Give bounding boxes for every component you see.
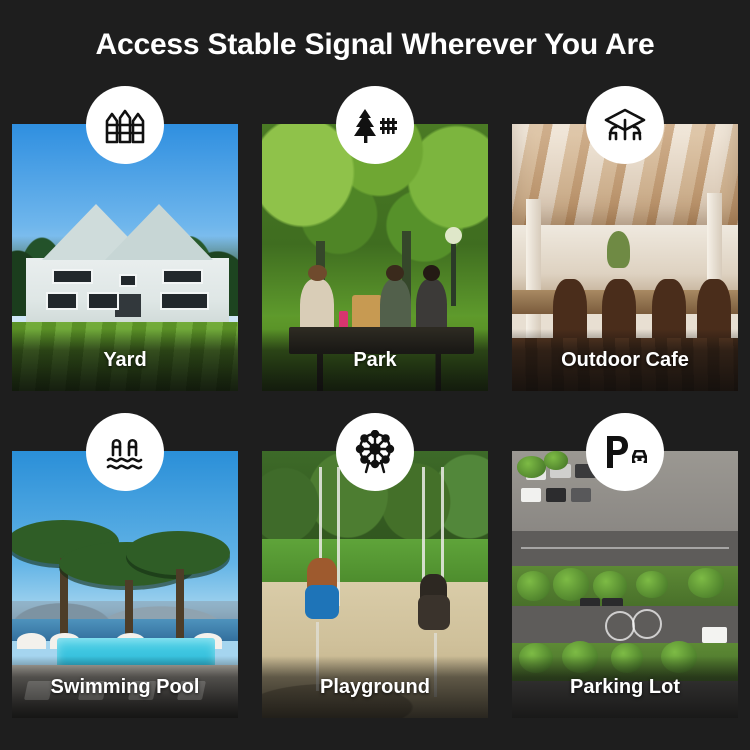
fence-icon bbox=[86, 86, 164, 164]
park-photo: Park bbox=[262, 124, 488, 391]
tile-label: Parking Lot bbox=[570, 676, 680, 699]
ferris-wheel-icon bbox=[336, 413, 414, 491]
scene-tile-playground[interactable]: Playground bbox=[262, 451, 488, 718]
yard-photo: Yard bbox=[12, 124, 238, 391]
tile-label-bar: Parking Lot bbox=[512, 656, 738, 718]
house bbox=[26, 258, 229, 327]
lamp-post bbox=[451, 236, 456, 305]
swing-seat bbox=[305, 585, 339, 620]
scene-tile-park[interactable]: Park bbox=[262, 124, 488, 391]
grass bbox=[262, 539, 488, 584]
tile-label-bar: Yard bbox=[12, 329, 238, 391]
swing-chain bbox=[337, 467, 340, 606]
umbrella bbox=[17, 633, 46, 649]
outdoor-cafe-photo: Outdoor Cafe bbox=[512, 124, 738, 391]
tile-label-bar: Swimming Pool bbox=[12, 656, 238, 718]
window bbox=[46, 292, 79, 310]
tree bbox=[517, 456, 546, 477]
swimming-pool-photo: Swimming Pool bbox=[12, 451, 238, 718]
scene-tile-outdoor-cafe[interactable]: Outdoor Cafe bbox=[512, 124, 738, 391]
tile-label-bar: Park bbox=[262, 329, 488, 391]
tile-label: Yard bbox=[103, 349, 146, 372]
window bbox=[52, 269, 93, 284]
tree bbox=[517, 571, 551, 600]
tree-bench-icon bbox=[336, 86, 414, 164]
plant bbox=[607, 231, 630, 268]
playground-photo: Playground bbox=[262, 451, 488, 718]
swing-seat bbox=[418, 595, 450, 630]
tree bbox=[593, 571, 627, 600]
roof-gable-right bbox=[105, 204, 213, 260]
tile-label-bar: Outdoor Cafe bbox=[512, 329, 738, 391]
parking-lot-photo: Parking Lot bbox=[512, 451, 738, 718]
page-title: Access Stable Signal Wherever You Are bbox=[0, 28, 750, 62]
scene-tile-yard[interactable]: Yard bbox=[12, 124, 238, 391]
scene-tile-swimming-pool[interactable]: Swimming Pool bbox=[12, 451, 238, 718]
tree bbox=[636, 571, 668, 598]
road-marking bbox=[521, 547, 729, 549]
promo-banner: Access Stable Signal Wherever You Are bbox=[0, 0, 750, 750]
ground-circle-marking bbox=[605, 611, 635, 641]
tree bbox=[544, 451, 569, 470]
tile-label-bar: Playground bbox=[262, 656, 488, 718]
tile-label: Playground bbox=[320, 676, 430, 699]
support-post bbox=[526, 199, 541, 349]
pool-ladder-waves-icon bbox=[86, 413, 164, 491]
car bbox=[521, 488, 541, 501]
tile-label: Swimming Pool bbox=[51, 676, 200, 699]
car bbox=[702, 627, 727, 643]
tree bbox=[688, 568, 724, 597]
car bbox=[546, 488, 566, 501]
scene-grid: Yard bbox=[12, 124, 738, 718]
scene-tile-parking-lot[interactable]: Parking Lot bbox=[512, 451, 738, 718]
tile-label: Outdoor Cafe bbox=[561, 349, 689, 372]
parasol-chairs-icon bbox=[586, 86, 664, 164]
ground-circle-marking bbox=[632, 609, 662, 639]
tree bbox=[553, 568, 589, 600]
car bbox=[571, 488, 591, 501]
window bbox=[160, 292, 209, 310]
window bbox=[87, 292, 120, 310]
parking-car-icon bbox=[586, 413, 664, 491]
window bbox=[119, 274, 137, 286]
window bbox=[162, 269, 203, 284]
tile-label: Park bbox=[353, 349, 396, 372]
